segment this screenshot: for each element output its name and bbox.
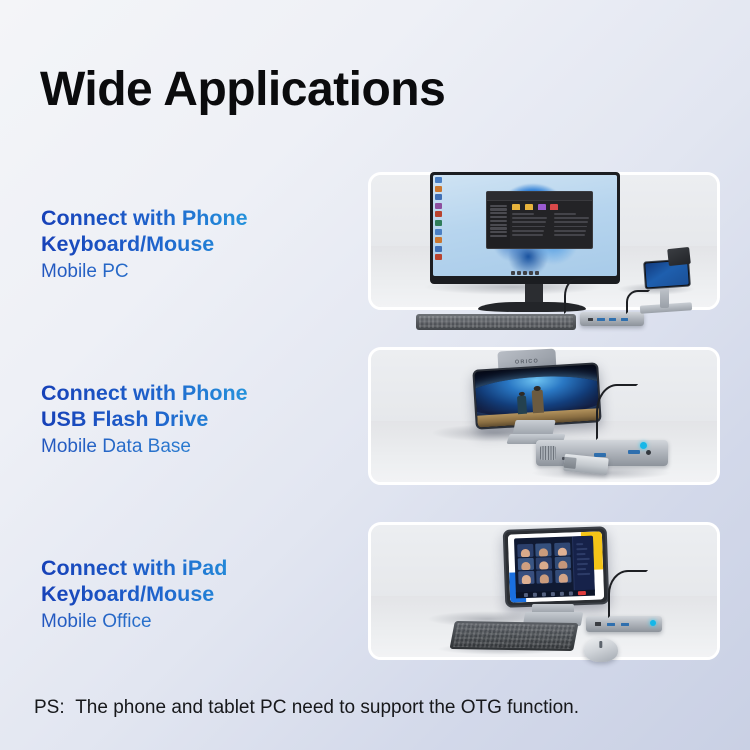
product-photo-panel-2	[368, 347, 720, 485]
desk-monitor-phone-scene	[371, 175, 717, 307]
feature-1-line-1: Connect with Phone	[41, 205, 341, 231]
feature-copy-1: Connect with Phone Keyboard/Mouse Mobile…	[41, 205, 341, 285]
hub-port-row	[588, 318, 639, 321]
usb-c-hub[interactable]	[580, 312, 644, 326]
hub-shadow	[617, 283, 695, 295]
hub-usb-port	[609, 318, 616, 321]
footnote-text: The phone and tablet PC need to support …	[75, 697, 579, 718]
feature-3-line-1: Connect with iPad	[41, 555, 341, 581]
feature-2-line-2: USB Flash Drive	[41, 406, 341, 432]
tablet-keyboard-mouse-scene	[371, 525, 717, 657]
footnote-prefix: PS:	[34, 697, 65, 718]
footnote: PS: The phone and tablet PC need to supp…	[34, 697, 579, 719]
feature-copy-2: Connect with Phone USB Flash Drive Mobil…	[41, 380, 341, 460]
monitor-shadow	[423, 279, 603, 295]
product-photo-panel-1	[368, 172, 720, 310]
scene-backdrop	[371, 350, 717, 424]
hub-usb-port	[621, 318, 628, 321]
scene-backdrop	[371, 525, 717, 599]
tablet-shadow	[427, 611, 547, 627]
feature-1-line-2: Keyboard/Mouse	[41, 231, 341, 257]
phone-stand-hub-flashdrive-scene	[371, 350, 717, 482]
hub-shadow	[531, 466, 671, 480]
scene-backdrop	[371, 175, 717, 249]
hub-hdmi-port	[588, 318, 593, 321]
hub-usb-port	[597, 318, 604, 321]
feature-copy-3: Connect with iPad Keyboard/Mouse Mobile …	[41, 555, 341, 635]
keyboard-shadow	[437, 643, 567, 655]
page-title: Wide Applications	[40, 62, 445, 117]
feature-3-line-2: Keyboard/Mouse	[41, 581, 341, 607]
feature-2-line-1: Connect with Phone	[41, 380, 341, 406]
feature-2-subtitle: Mobile Data Base	[41, 434, 341, 460]
feature-3-subtitle: Mobile Office	[41, 609, 341, 635]
keyboard[interactable]	[416, 314, 576, 330]
product-photo-panel-3	[368, 522, 720, 660]
phone-shadow	[431, 424, 561, 442]
feature-1-subtitle: Mobile PC	[41, 259, 341, 285]
scene-floor	[371, 246, 717, 307]
